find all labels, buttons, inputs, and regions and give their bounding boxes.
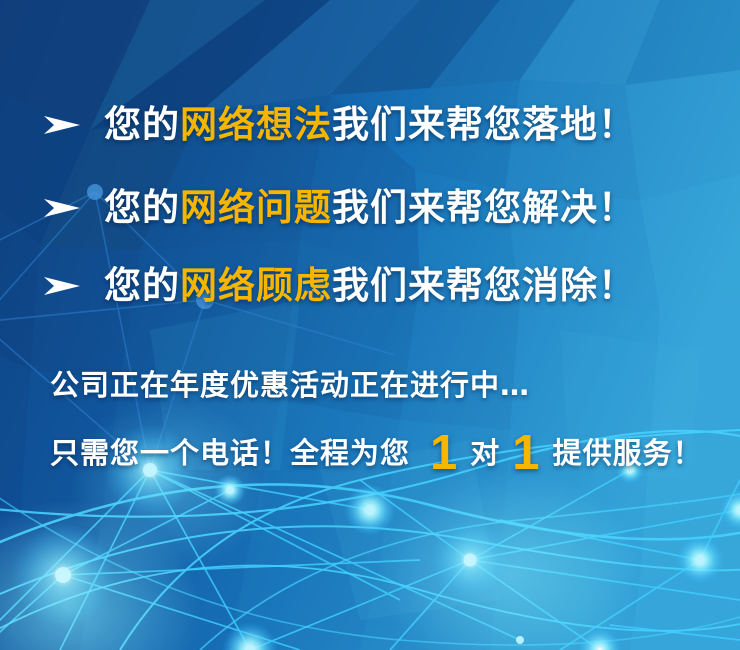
service-ratio-second-number: 1	[508, 434, 544, 473]
headline-2-suffix: 我们来帮您解决！	[332, 186, 636, 229]
headline-1-suffix: 我们来帮您落地！	[332, 103, 636, 146]
headline-text-1: 您的网络想法我们来帮您落地！	[104, 103, 636, 147]
arrow-right-icon	[42, 110, 82, 140]
headline-text-3: 您的网络顾虑我们来帮您消除！	[104, 264, 636, 308]
promo-banner: 您的网络想法我们来帮您落地！ 您的网络问题我们来帮您解决！ 您的网络顾虑我们来帮…	[0, 0, 740, 650]
headline-1-prefix: 您的	[104, 103, 180, 146]
subtext-line-1: 公司正在年度优惠活动正在进行中…	[50, 362, 530, 404]
subtext-line-2-part2: 提供服务！	[553, 436, 703, 470]
banner-content: 您的网络想法我们来帮您落地！ 您的网络问题我们来帮您解决！ 您的网络顾虑我们来帮…	[0, 0, 740, 650]
arrow-right-icon	[42, 271, 82, 301]
service-ratio-first-number: 1	[426, 434, 462, 473]
headline-text-2: 您的网络问题我们来帮您解决！	[104, 186, 636, 230]
service-ratio-separator: 对	[470, 436, 500, 470]
subtext-line-2-part1: 只需您一个电话！全程为您	[50, 436, 410, 470]
arrow-right-icon	[42, 193, 82, 223]
headline-2-prefix: 您的	[104, 186, 180, 229]
headline-3-highlight: 网络顾虑	[180, 264, 332, 307]
subtext-line-2: 只需您一个电话！全程为您1对1提供服务！	[50, 430, 703, 473]
headline-row-2: 您的网络问题我们来帮您解决！	[42, 186, 636, 230]
headline-1-highlight: 网络想法	[180, 103, 332, 146]
headline-3-suffix: 我们来帮您消除！	[332, 264, 636, 307]
headline-2-highlight: 网络问题	[180, 186, 332, 229]
headline-3-prefix: 您的	[104, 264, 180, 307]
headline-row-3: 您的网络顾虑我们来帮您消除！	[42, 264, 636, 308]
headline-row-1: 您的网络想法我们来帮您落地！	[42, 103, 636, 147]
